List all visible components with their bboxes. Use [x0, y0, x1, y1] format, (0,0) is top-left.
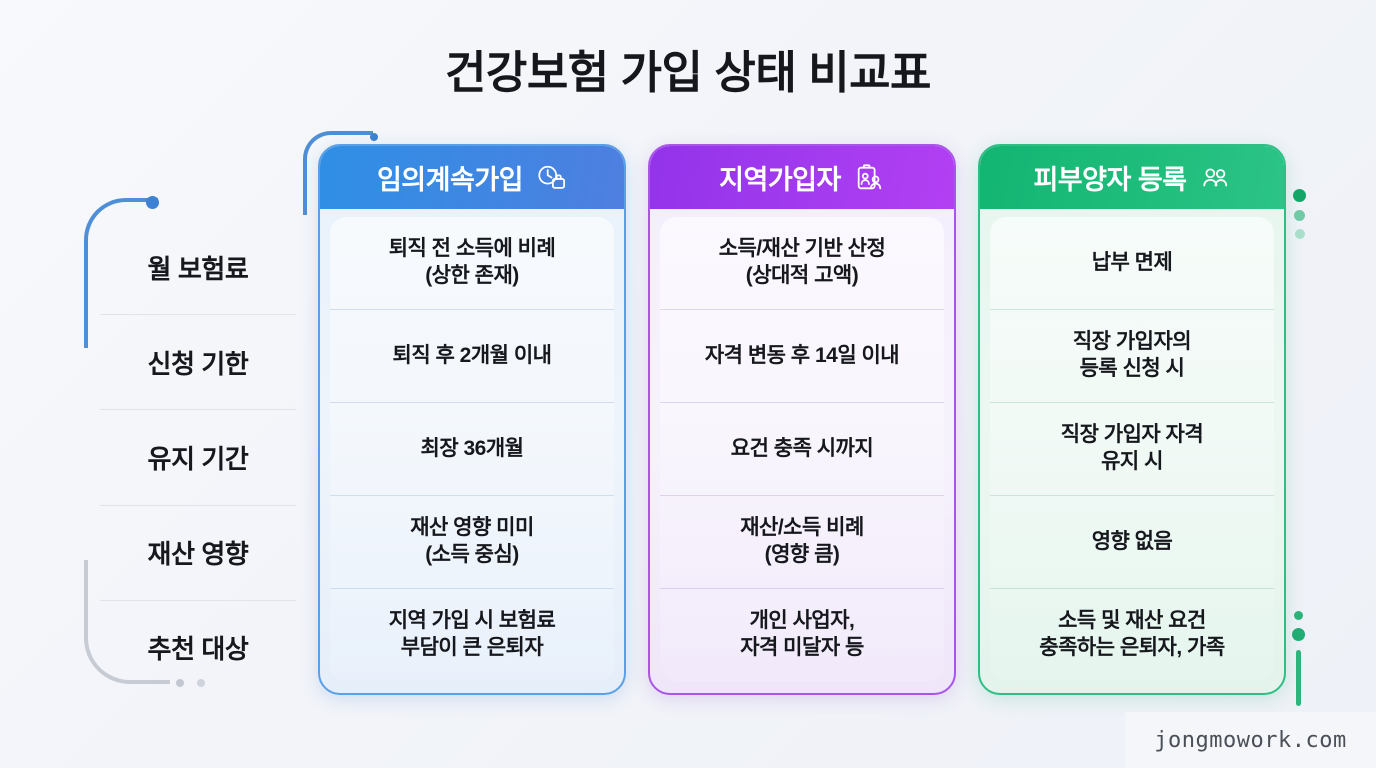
decorative-dot-blue — [146, 196, 159, 209]
cell-asset-impact: 재산 영향 미미 (소득 중심) — [330, 496, 614, 589]
cell-period: 직장 가입자 자격 유지 시 — [990, 403, 1274, 496]
cell-period: 요건 충족 시까지 — [660, 403, 944, 496]
cell-asset-impact: 재산/소득 비례 (영향 큼) — [660, 496, 944, 589]
clipboard-person-icon — [853, 162, 885, 194]
row-label-asset-impact: 재산 영향 — [100, 506, 296, 601]
two-people-icon — [1199, 162, 1231, 194]
cell-premium: 소득/재산 기반 산정 (상대적 고액) — [660, 217, 944, 310]
cell-target: 개인 사업자, 자격 미달자 등 — [660, 589, 944, 681]
card-body-dependent-registration: 납부 면제 직장 가입자의 등록 신청 시 직장 가입자 자격 유지 시 영향 … — [990, 217, 1274, 681]
comparison-card-regional-subscriber[interactable]: 지역가입자 소득/재산 기반 산정 (상대적 고액) 자격 변동 후 14일 이… — [648, 144, 956, 695]
card-body-voluntary-continuation: 퇴직 전 소득에 비례 (상한 존재) 퇴직 후 2개월 이내 최장 36개월 … — [330, 217, 614, 681]
cell-target: 지역 가입 시 보험료 부담이 큰 은퇴자 — [330, 589, 614, 681]
cell-premium: 납부 면제 — [990, 217, 1274, 310]
cell-asset-impact: 영향 없음 — [990, 496, 1274, 589]
card-header-label: 임의계속가입 — [377, 158, 523, 197]
cell-target: 소득 및 재산 요건 충족하는 은퇴자, 가족 — [990, 589, 1274, 681]
cell-deadline: 직장 가입자의 등록 신청 시 — [990, 310, 1274, 403]
clock-briefcase-icon — [535, 162, 567, 194]
decorative-dot-green-4 — [1294, 611, 1303, 620]
cell-period: 최장 36개월 — [330, 403, 614, 496]
row-label-application-deadline: 신청 기한 — [100, 315, 296, 410]
page-title: 건강보험 가입 상태 비교표 — [0, 46, 1376, 100]
site-watermark: jongmowork.com — [1125, 712, 1376, 768]
decorative-dot-green-3 — [1295, 229, 1305, 239]
row-label-maintenance-period: 유지 기간 — [100, 410, 296, 505]
decorative-dot-card-blue — [370, 133, 378, 141]
decorative-dot-green-2 — [1294, 210, 1305, 221]
card-header-dependent-registration: 피부양자 등록 — [980, 146, 1284, 209]
card-header-label: 지역가입자 — [719, 158, 841, 197]
row-label-recommended-target: 추천 대상 — [100, 601, 296, 695]
decorative-dot-green-5 — [1292, 628, 1305, 641]
row-label-column: 월 보험료 신청 기한 유지 기간 재산 영향 추천 대상 — [100, 220, 296, 695]
decorative-line-green — [1296, 650, 1301, 706]
row-label-monthly-premium: 월 보험료 — [100, 220, 296, 315]
cell-premium: 퇴직 전 소득에 비례 (상한 존재) — [330, 217, 614, 310]
decorative-dot-green-1 — [1293, 189, 1306, 202]
card-body-regional-subscriber: 소득/재산 기반 산정 (상대적 고액) 자격 변동 후 14일 이내 요건 충… — [660, 217, 944, 681]
cell-deadline: 퇴직 후 2개월 이내 — [330, 310, 614, 403]
card-header-voluntary-continuation: 임의계속가입 — [320, 146, 624, 209]
cell-deadline: 자격 변동 후 14일 이내 — [660, 310, 944, 403]
comparison-card-voluntary-continuation[interactable]: 임의계속가입 퇴직 전 소득에 비례 (상한 존재) 퇴직 후 2개월 이내 최… — [318, 144, 626, 695]
card-header-regional-subscriber: 지역가입자 — [650, 146, 954, 209]
comparison-card-dependent-registration[interactable]: 피부양자 등록 납부 면제 직장 가입자의 등록 신청 시 직장 가입자 자격 … — [978, 144, 1286, 695]
infographic-canvas: 건강보험 가입 상태 비교표 월 보험료 신청 기한 유지 기간 재산 영향 추… — [0, 0, 1376, 768]
card-header-label: 피부양자 등록 — [1033, 158, 1186, 197]
